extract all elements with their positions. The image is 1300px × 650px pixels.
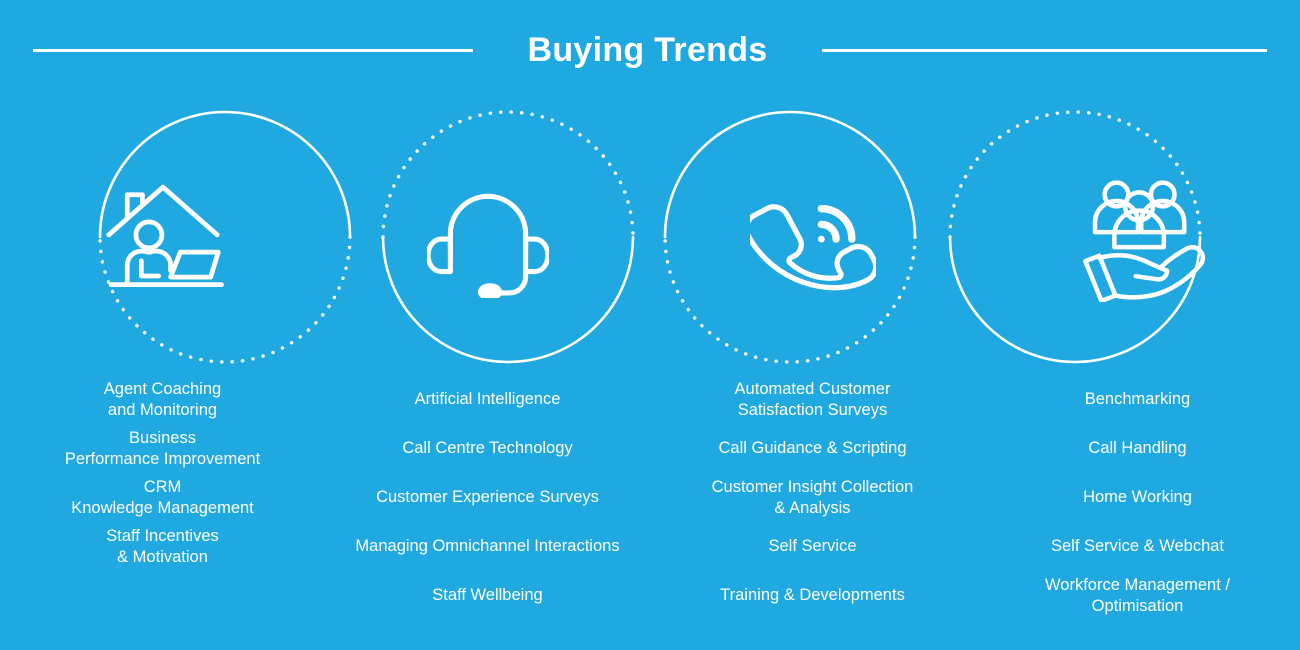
list-item[interactable]: Agent Coaching and Monitoring <box>0 375 325 424</box>
list-item[interactable]: Business Performance Improvement <box>0 424 325 473</box>
list-item[interactable]: Customer Experience Surveys <box>325 473 650 522</box>
trend-columns: Agent Coaching and Monitoring Business P… <box>0 105 1300 620</box>
page-title: Buying Trends <box>527 33 767 67</box>
list-item[interactable]: Automated Customer Satisfaction Surveys <box>650 375 975 424</box>
list-item[interactable]: Staff Incentives & Motivation <box>0 522 325 571</box>
trend-column-2: Artificial Intelligence Call Centre Tech… <box>325 105 650 620</box>
list-item[interactable]: Call Handling <box>975 424 1300 473</box>
title-rule-right <box>822 49 1267 52</box>
list-item[interactable]: Call Centre Technology <box>325 424 650 473</box>
people-in-hand-icon <box>1006 105 1270 369</box>
trend-column-1: Agent Coaching and Monitoring Business P… <box>0 105 325 620</box>
trend-column-3: Automated Customer Satisfaction Surveys … <box>650 105 975 620</box>
trend-list-1: Agent Coaching and Monitoring Business P… <box>0 375 325 571</box>
list-item[interactable]: Workforce Management / Optimisation <box>975 571 1300 620</box>
trend-list-4: Benchmarking Call Handling Home Working … <box>975 375 1300 620</box>
list-item[interactable]: Self Service <box>650 522 975 571</box>
trend-column-4: Benchmarking Call Handling Home Working … <box>975 105 1300 620</box>
list-item[interactable]: Home Working <box>975 473 1300 522</box>
phone-call-icon <box>681 105 945 369</box>
list-item[interactable]: Benchmarking <box>975 375 1300 424</box>
list-item[interactable]: Customer Insight Collection & Analysis <box>650 473 975 522</box>
title-rule-left <box>33 49 473 52</box>
list-item[interactable]: Artificial Intelligence <box>325 375 650 424</box>
trend-list-2: Artificial Intelligence Call Centre Tech… <box>325 375 650 620</box>
headset-icon <box>356 105 620 369</box>
list-item[interactable]: Staff Wellbeing <box>325 571 650 620</box>
list-item[interactable]: CRM Knowledge Management <box>0 473 325 522</box>
home-working-icon <box>31 105 295 369</box>
page-header: Buying Trends <box>0 0 1300 100</box>
list-item[interactable]: Self Service & Webchat <box>975 522 1300 571</box>
list-item[interactable]: Training & Developments <box>650 571 975 620</box>
list-item[interactable]: Call Guidance & Scripting <box>650 424 975 473</box>
trend-list-3: Automated Customer Satisfaction Surveys … <box>650 375 975 620</box>
list-item[interactable]: Managing Omnichannel Interactions <box>325 522 650 571</box>
